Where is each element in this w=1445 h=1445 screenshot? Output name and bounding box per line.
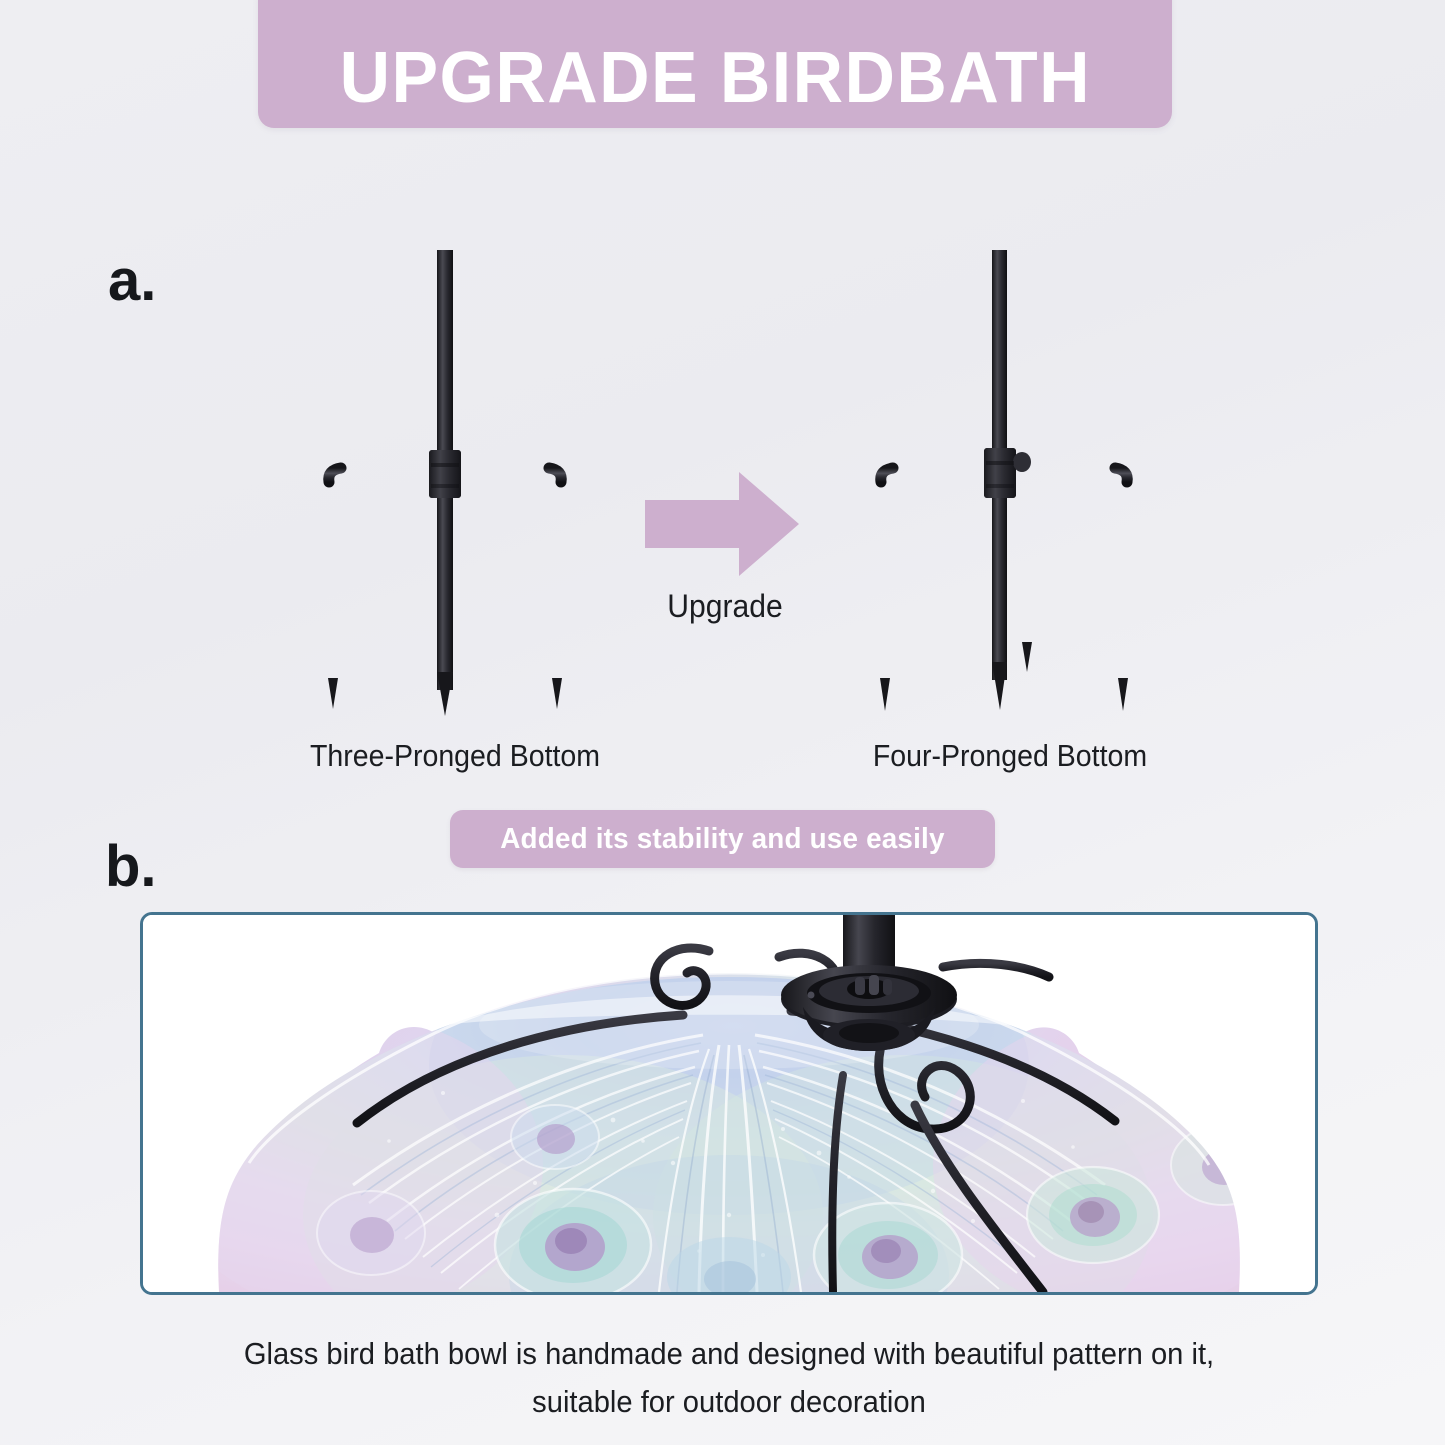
infographic-page: UPGRADE BIRDBATH a. xyxy=(0,0,1445,1445)
caption-three-pronged: Three-Pronged Bottom xyxy=(193,738,717,774)
birdbath-photo xyxy=(143,915,1315,1292)
photo-caption-line-1: Glass bird bath bowl is handmade and des… xyxy=(175,1330,1282,1378)
stability-banner-text: Added its stability and use easily xyxy=(500,823,944,856)
photo-caption-line-2: suitable for outdoor decoration xyxy=(175,1378,1282,1426)
glass-birdbath-bowl-illustration xyxy=(143,915,1315,1292)
birdbath-photo-panel xyxy=(140,912,1318,1295)
section-label-b: b. xyxy=(105,838,157,896)
four-prong-stake-icon xyxy=(855,248,1155,718)
caption-four-pronged: Four-Pronged Bottom xyxy=(748,738,1272,774)
title-banner: UPGRADE BIRDBATH xyxy=(258,0,1172,128)
page-title: UPGRADE BIRDBATH xyxy=(339,42,1090,114)
upgrade-label: Upgrade xyxy=(608,588,843,625)
right-arrow-icon xyxy=(643,468,801,580)
photo-caption: Glass bird bath bowl is handmade and des… xyxy=(175,1330,1282,1426)
watermark-ghost-top xyxy=(640,120,880,200)
stability-banner: Added its stability and use easily xyxy=(450,810,995,868)
three-prong-stake-icon xyxy=(295,248,595,718)
section-label-a: a. xyxy=(108,252,156,310)
